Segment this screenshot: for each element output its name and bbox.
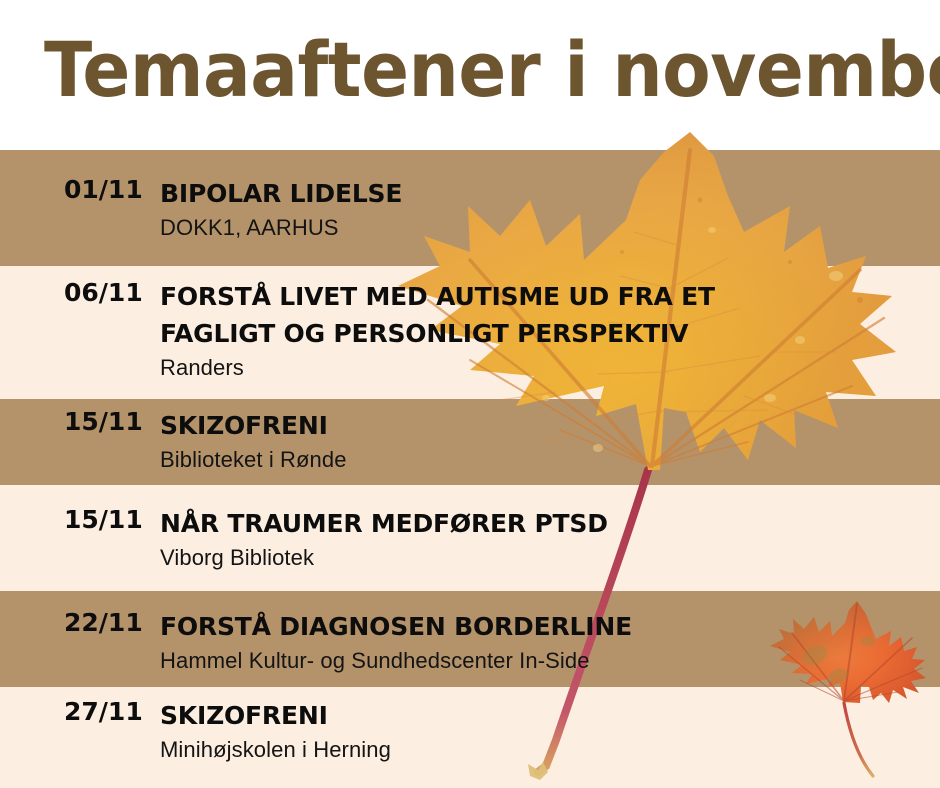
event-place: Randers (160, 353, 940, 383)
event-info: SKIZOFRENI Minihøjskolen i Herning (160, 697, 940, 765)
event-row-4: 15/11 NÅR TRAUMER MEDFØRER PTSD Viborg B… (0, 505, 940, 573)
event-title: SKIZOFRENI (160, 697, 940, 734)
event-place: Minihøjskolen i Herning (160, 735, 940, 765)
event-title: FORSTÅ LIVET MED AUTISME UD FRA ET FAGLI… (160, 278, 940, 352)
page-title: Temaaftener i november (44, 24, 853, 120)
event-row-2: 06/11 FORSTÅ LIVET MED AUTISME UD FRA ET… (0, 278, 940, 383)
event-place: Viborg Bibliotek (160, 543, 940, 573)
event-row-3: 15/11 SKIZOFRENI Biblioteket i Rønde (0, 407, 940, 475)
event-title: NÅR TRAUMER MEDFØRER PTSD (160, 505, 940, 542)
event-info: NÅR TRAUMER MEDFØRER PTSD Viborg Bibliot… (160, 505, 940, 573)
event-row-6: 27/11 SKIZOFRENI Minihøjskolen i Herning (0, 697, 940, 765)
event-date: 06/11 (0, 278, 160, 307)
event-place: Hammel Kultur- og Sundhedscenter In-Side (160, 646, 940, 676)
event-title: FORSTÅ DIAGNOSEN BORDERLINE (160, 608, 940, 645)
event-date: 01/11 (0, 175, 160, 204)
event-date: 15/11 (0, 505, 160, 534)
event-date: 15/11 (0, 407, 160, 436)
event-row-1: 01/11 BIPOLAR LIDELSE DOKK1, AARHUS (0, 175, 940, 243)
poster-canvas: Temaaftener i november (0, 0, 940, 788)
event-title: BIPOLAR LIDELSE (160, 175, 940, 212)
event-info: FORSTÅ LIVET MED AUTISME UD FRA ET FAGLI… (160, 278, 940, 383)
event-date: 22/11 (0, 608, 160, 637)
event-date: 27/11 (0, 697, 160, 726)
event-info: BIPOLAR LIDELSE DOKK1, AARHUS (160, 175, 940, 243)
event-info: FORSTÅ DIAGNOSEN BORDERLINE Hammel Kultu… (160, 608, 940, 676)
event-place: DOKK1, AARHUS (160, 213, 940, 243)
event-row-5: 22/11 FORSTÅ DIAGNOSEN BORDERLINE Hammel… (0, 608, 940, 676)
event-title: SKIZOFRENI (160, 407, 940, 444)
event-place: Biblioteket i Rønde (160, 445, 940, 475)
event-info: SKIZOFRENI Biblioteket i Rønde (160, 407, 940, 475)
